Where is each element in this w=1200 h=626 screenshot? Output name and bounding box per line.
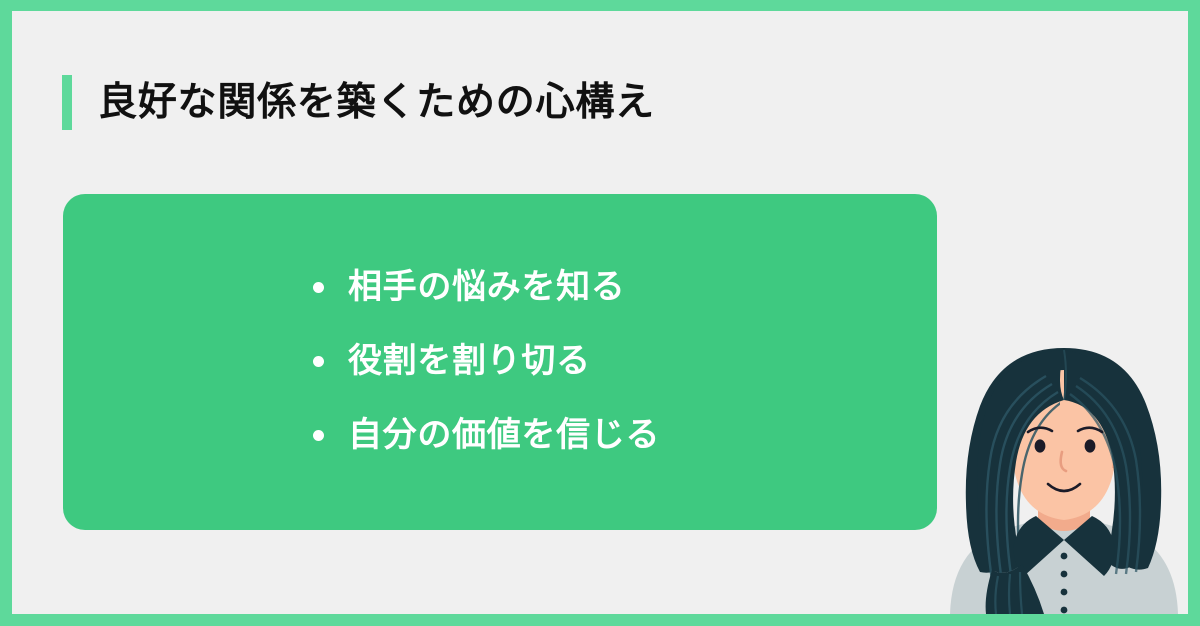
list-item-label: 役割を割り切る bbox=[348, 344, 591, 378]
list-item: 役割を割り切る bbox=[313, 324, 660, 398]
slide-heading: 良好な関係を築くための心構え bbox=[62, 73, 655, 131]
page-title: 良好な関係を築くための心構え bbox=[98, 83, 655, 122]
woman-illustration-svg bbox=[940, 344, 1188, 614]
bullet-dot-icon bbox=[313, 356, 324, 367]
key-points-list: 相手の悩みを知る 役割を割り切る 自分の価値を信じる bbox=[313, 250, 660, 472]
bullet-dot-icon bbox=[313, 282, 324, 293]
list-item: 相手の悩みを知る bbox=[313, 250, 660, 324]
list-item: 自分の価値を信じる bbox=[313, 398, 660, 472]
list-item-label: 自分の価値を信じる bbox=[348, 418, 660, 452]
woman-illustration bbox=[940, 344, 1188, 614]
title-accent-bar bbox=[62, 75, 72, 130]
list-item-label: 相手の悩みを知る bbox=[348, 270, 625, 304]
slide-inner-panel: 良好な関係を築くための心構え 相手の悩みを知る 役割を割り切る 自分の価値を信じ… bbox=[12, 11, 1188, 614]
slide-canvas: 良好な関係を築くための心構え 相手の悩みを知る 役割を割り切る 自分の価値を信じ… bbox=[0, 0, 1200, 626]
key-points-card: 相手の悩みを知る 役割を割り切る 自分の価値を信じる bbox=[63, 194, 937, 530]
bullet-dot-icon bbox=[313, 430, 324, 441]
